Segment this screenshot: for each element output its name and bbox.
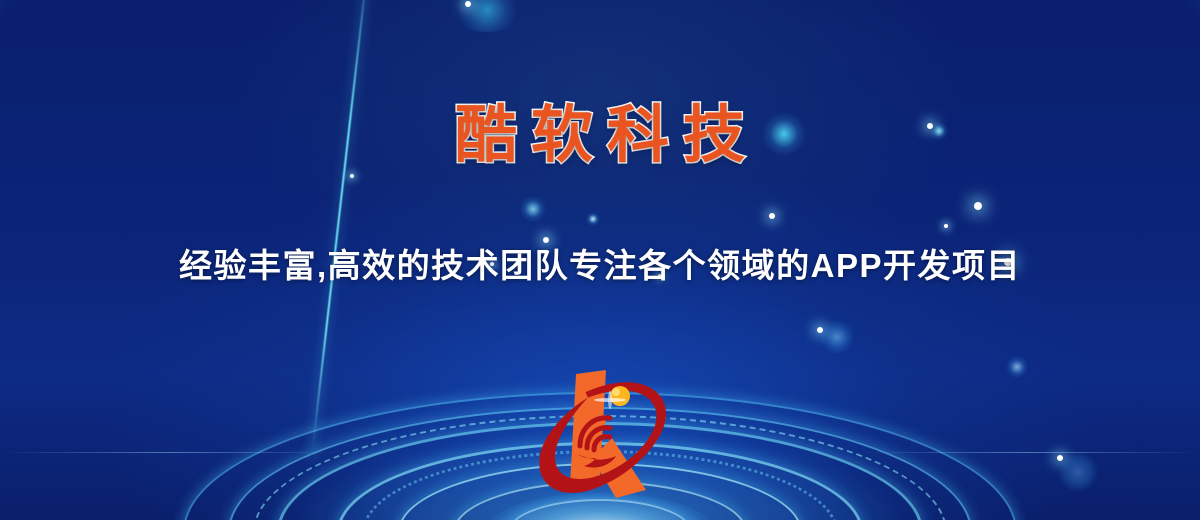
hud-core-glow xyxy=(485,493,715,520)
hud-tick-band-outer xyxy=(200,399,1000,520)
logo-accent-dot-highlight xyxy=(612,388,620,396)
particle-1 xyxy=(543,237,549,243)
glow-bottom-right xyxy=(1058,452,1098,492)
glow-mid-left xyxy=(520,196,546,222)
logo-accent-dot xyxy=(610,386,630,406)
particle-6 xyxy=(944,224,948,228)
hud-ring-6 xyxy=(453,481,747,520)
page-subtitle: 经验丰富,高效的技术团队专注各个领域的APP开发项目 xyxy=(0,246,1200,286)
hud-ring-7 xyxy=(508,499,692,520)
glow-mid-right xyxy=(586,212,600,226)
glow-top-left-cyan xyxy=(452,0,522,32)
particle-8 xyxy=(350,174,354,178)
logo-signal-arcs xyxy=(580,418,610,450)
hud-tick-band-inner xyxy=(300,432,900,520)
floor-line-left xyxy=(0,452,340,453)
tech-hud-platform xyxy=(185,382,1015,520)
hud-ring-3 xyxy=(277,422,923,520)
logo-bird-shape xyxy=(578,454,616,468)
hud-ring-4 xyxy=(337,442,863,520)
hud-dotted-ring xyxy=(362,450,838,520)
particle-9 xyxy=(465,1,471,7)
floor-line-right xyxy=(860,452,1200,453)
hud-ring-5 xyxy=(398,463,802,520)
glow-lower-right xyxy=(820,320,854,354)
particle-3 xyxy=(769,213,775,219)
hero-banner: 酷软科技 经验丰富,高效的技术团队专注各个领域的APP开发项目 xyxy=(0,0,1200,520)
hud-ring-outer xyxy=(183,392,1017,520)
page-title: 酷软科技 xyxy=(0,102,1200,170)
hud-dashed-ring xyxy=(253,415,947,520)
logo-sparkle-icon xyxy=(594,391,626,409)
glow-lower-right-2 xyxy=(1006,356,1028,378)
hud-glow-disc xyxy=(300,432,900,520)
hud-ring-2 xyxy=(228,407,972,520)
particle-10 xyxy=(817,327,823,333)
particle-5 xyxy=(974,202,982,210)
logo-k-letter xyxy=(570,370,646,498)
company-logo xyxy=(520,360,690,520)
particle-11 xyxy=(1057,455,1063,461)
light-beam-icon xyxy=(311,0,372,458)
logo-orbit-swoosh xyxy=(520,365,685,507)
